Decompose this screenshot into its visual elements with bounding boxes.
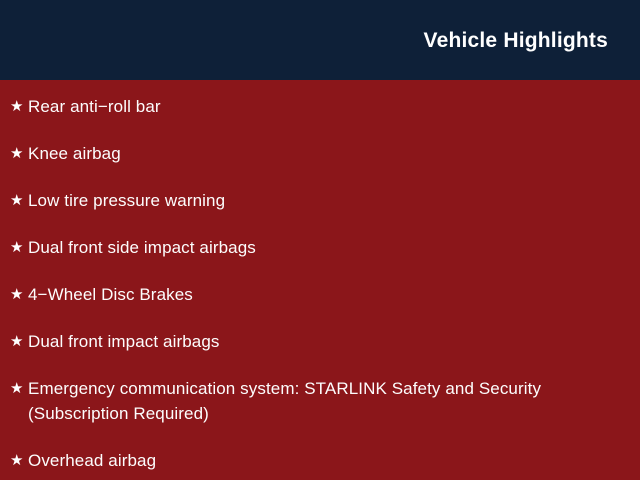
list-item-label: Overhead airbag	[28, 448, 156, 473]
star-icon: ★	[10, 448, 28, 473]
vehicle-highlights-slide: Vehicle Highlights ★ Rear anti−roll bar …	[0, 0, 640, 480]
star-icon: ★	[10, 94, 28, 119]
header-band: Vehicle Highlights	[0, 0, 640, 80]
list-item-label: Emergency communication system: STARLINK…	[28, 376, 618, 426]
star-icon: ★	[10, 188, 28, 213]
list-item-label: Dual front impact airbags	[28, 329, 219, 354]
list-item: ★ Emergency communication system: STARLI…	[10, 376, 620, 426]
page-title: Vehicle Highlights	[424, 30, 608, 51]
highlights-list: ★ Rear anti−roll bar ★ Knee airbag ★ Low…	[0, 80, 640, 480]
list-item-label: Low tire pressure warning	[28, 188, 225, 213]
list-item-label: Knee airbag	[28, 141, 121, 166]
star-icon: ★	[10, 141, 28, 166]
list-item-label: 4−Wheel Disc Brakes	[28, 282, 193, 307]
list-item: ★ 4−Wheel Disc Brakes	[10, 282, 620, 307]
list-item-label: Dual front side impact airbags	[28, 235, 256, 260]
list-item: ★ Dual front impact airbags	[10, 329, 620, 354]
list-item: ★ Low tire pressure warning	[10, 188, 620, 213]
star-icon: ★	[10, 329, 28, 354]
list-item: ★ Overhead airbag	[10, 448, 620, 473]
list-item: ★ Knee airbag	[10, 141, 620, 166]
list-item-label: Rear anti−roll bar	[28, 94, 161, 119]
star-icon: ★	[10, 376, 28, 401]
star-icon: ★	[10, 282, 28, 307]
list-item: ★ Dual front side impact airbags	[10, 235, 620, 260]
list-item: ★ Rear anti−roll bar	[10, 94, 620, 119]
star-icon: ★	[10, 235, 28, 260]
